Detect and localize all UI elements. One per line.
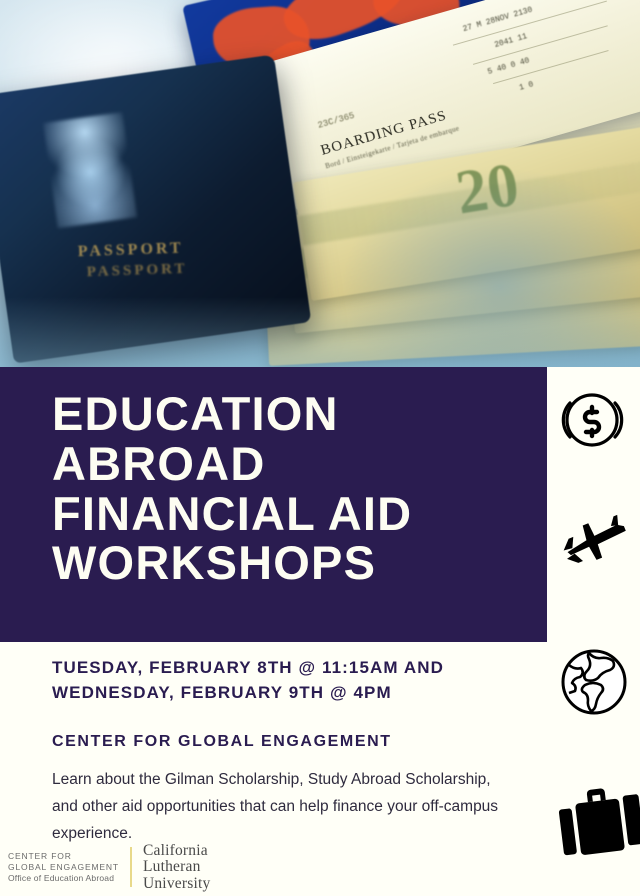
boarding-pass-field: 2041 11 (494, 32, 529, 50)
title-line-3: FINANCIAL AID (52, 489, 517, 539)
passport-crest (43, 112, 137, 228)
logo-divider (130, 847, 132, 887)
globe-icon (557, 645, 631, 724)
cge-logo: CENTER FOR GLOBAL ENGAGEMENT Office of E… (8, 851, 119, 884)
university-line-2: Lutheran (143, 859, 210, 875)
university-line-3: University (143, 876, 210, 892)
poster-canvas: 27 M 28NOV 2130 2041 11 5 40 0 40 23C/36… (0, 0, 640, 896)
cge-line-3: Office of Education Abroad (8, 873, 119, 884)
title-block: EDUCATION ABROAD FINANCIAL AID WORKSHOPS (0, 367, 547, 642)
title-line-4: WORKSHOPS (52, 538, 517, 588)
airplane-icon (559, 507, 631, 578)
passport-label-secondary: PASSPORT (86, 259, 246, 282)
host-organization: CENTER FOR GLOBAL ENGAGEMENT (52, 733, 522, 751)
event-dates: TUESDAY, FEBRUARY 8TH @ 11:15AM AND WEDN… (52, 656, 522, 705)
title-line-1: EDUCATION (52, 389, 517, 439)
boarding-pass-rule (473, 25, 608, 65)
boarding-pass-field: 27 M 28NOV 2130 (462, 6, 534, 35)
passport-label: PASSPORT (78, 238, 239, 262)
cal-lutheran-logo: California Lutheran University (143, 843, 210, 892)
dollar-coin-icon (561, 387, 627, 458)
cge-line-1: CENTER FOR (8, 851, 119, 862)
boarding-pass-field: 1 0 (518, 80, 534, 93)
icon-column (547, 367, 640, 896)
title-line-2: ABROAD (52, 439, 517, 489)
photo-bottom-fade (0, 297, 640, 367)
boarding-pass-code: 23C/365 (317, 111, 356, 131)
university-line-1: California (143, 843, 210, 859)
cge-line-2: GLOBAL ENGAGEMENT (8, 862, 119, 873)
event-date-line-2: WEDNESDAY, FEBRUARY 9TH @ 4PM (52, 681, 522, 706)
footer-logos: CENTER FOR GLOBAL ENGAGEMENT Office of E… (8, 843, 210, 892)
details-section: TUESDAY, FEBRUARY 8TH @ 11:15AM AND WEDN… (52, 656, 522, 847)
suitcase-icon (555, 787, 640, 868)
hero-photo: 27 M 28NOV 2130 2041 11 5 40 0 40 23C/36… (0, 0, 640, 367)
event-description: Learn about the Gilman Scholarship, Stud… (52, 767, 520, 847)
event-date-line-1: TUESDAY, FEBRUARY 8TH @ 11:15AM AND (52, 656, 522, 681)
